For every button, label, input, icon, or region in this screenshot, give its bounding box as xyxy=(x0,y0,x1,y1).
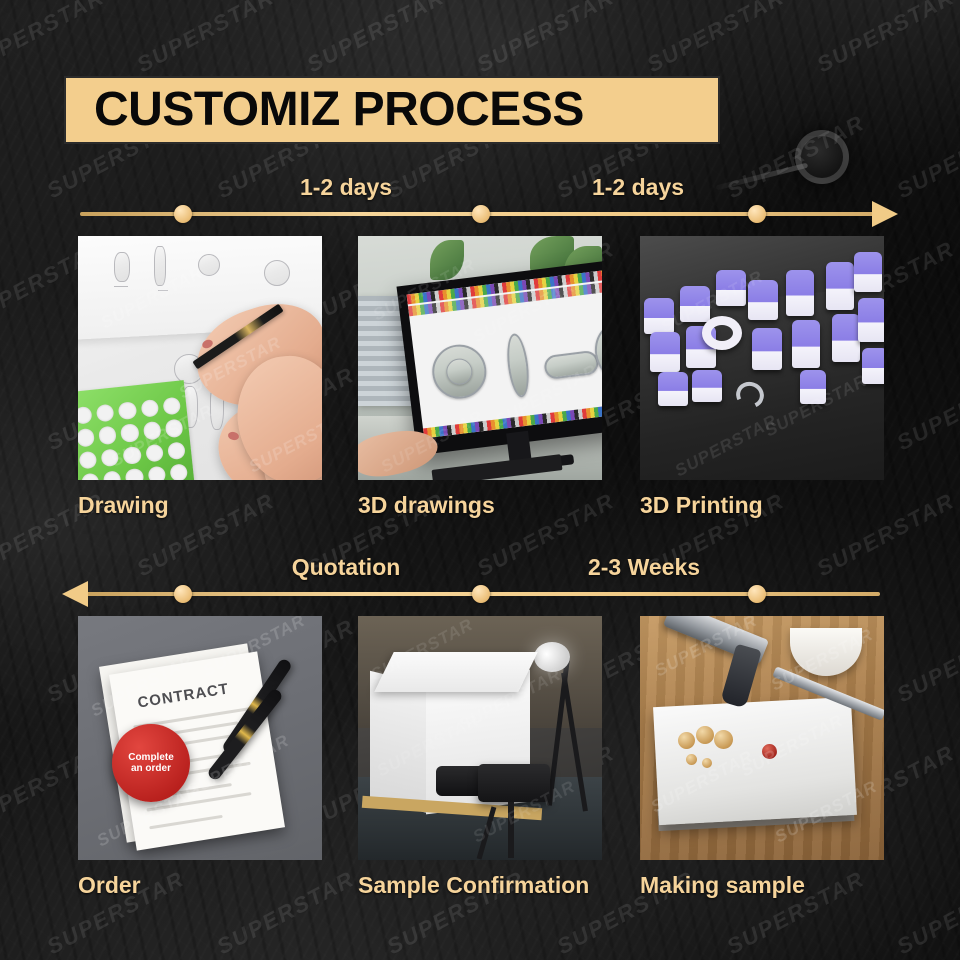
process-step-order[interactable]: CONTRACT Complete an order xyxy=(78,616,322,899)
step-caption: Drawing xyxy=(78,492,322,519)
timeline-dot xyxy=(472,585,490,603)
resin-models-photo[interactable]: SUPERSTAR SUPERSTAR SUPERSTAR xyxy=(640,236,884,480)
arrow-right-icon xyxy=(872,201,898,227)
contract-photo[interactable]: CONTRACT Complete an order xyxy=(78,616,322,860)
process-step-3d-drawings[interactable]: SUPERSTAR SUPERSTAR SUPERSTAR SUPERSTAR … xyxy=(358,236,602,519)
bottom-timeline: Quotation 2-3 Weeks xyxy=(0,552,960,614)
timeline-label-1: Quotation xyxy=(292,554,401,581)
title-banner: CUSTOMIZ PROCESS xyxy=(64,76,720,144)
seal-line-1: Complete xyxy=(128,752,174,763)
timeline-label-2: 1-2 days xyxy=(592,174,684,201)
timeline-dot xyxy=(174,205,192,223)
step-caption: Order xyxy=(78,872,322,899)
step-caption: 3D Printing xyxy=(640,492,884,519)
page-title: CUSTOMIZ PROCESS xyxy=(66,86,584,134)
timeline-label-2: 2-3 Weeks xyxy=(588,554,700,581)
drawing-photo[interactable]: SUPERSTAR SUPERSTAR SUPERSTAR SUPERSTAR xyxy=(78,236,322,480)
timeline-dot xyxy=(174,585,192,603)
lightbox-studio-photo[interactable]: SUPERSTAR SUPERSTAR SUPERSTAR SUPERSTAR xyxy=(358,616,602,860)
step-caption: Making sample xyxy=(640,872,884,899)
timeline-dot xyxy=(748,585,766,603)
process-step-sample-confirmation[interactable]: SUPERSTAR SUPERSTAR SUPERSTAR SUPERSTAR … xyxy=(358,616,602,899)
process-step-3d-printing[interactable]: SUPERSTAR SUPERSTAR SUPERSTAR 3D Printin… xyxy=(640,236,884,519)
process-step-making-sample[interactable]: SUPERSTAR SUPERSTAR SUPERSTAR SUPERSTAR … xyxy=(640,616,884,899)
step-caption: 3D drawings xyxy=(358,492,602,519)
cad-monitor-photo[interactable]: SUPERSTAR SUPERSTAR SUPERSTAR SUPERSTAR xyxy=(358,236,602,480)
top-timeline: 1-2 days 1-2 days xyxy=(0,172,960,234)
seal-line-2: an order xyxy=(131,763,171,774)
timeline-dot xyxy=(748,205,766,223)
step-caption: Sample Confirmation xyxy=(358,872,602,899)
timeline-dot xyxy=(472,205,490,223)
soldering-photo[interactable]: SUPERSTAR SUPERSTAR SUPERSTAR SUPERSTAR … xyxy=(640,616,884,860)
process-step-drawing[interactable]: SUPERSTAR SUPERSTAR SUPERSTAR SUPERSTAR … xyxy=(78,236,322,519)
arrow-left-icon xyxy=(62,581,88,607)
timeline-label-1: 1-2 days xyxy=(300,174,392,201)
